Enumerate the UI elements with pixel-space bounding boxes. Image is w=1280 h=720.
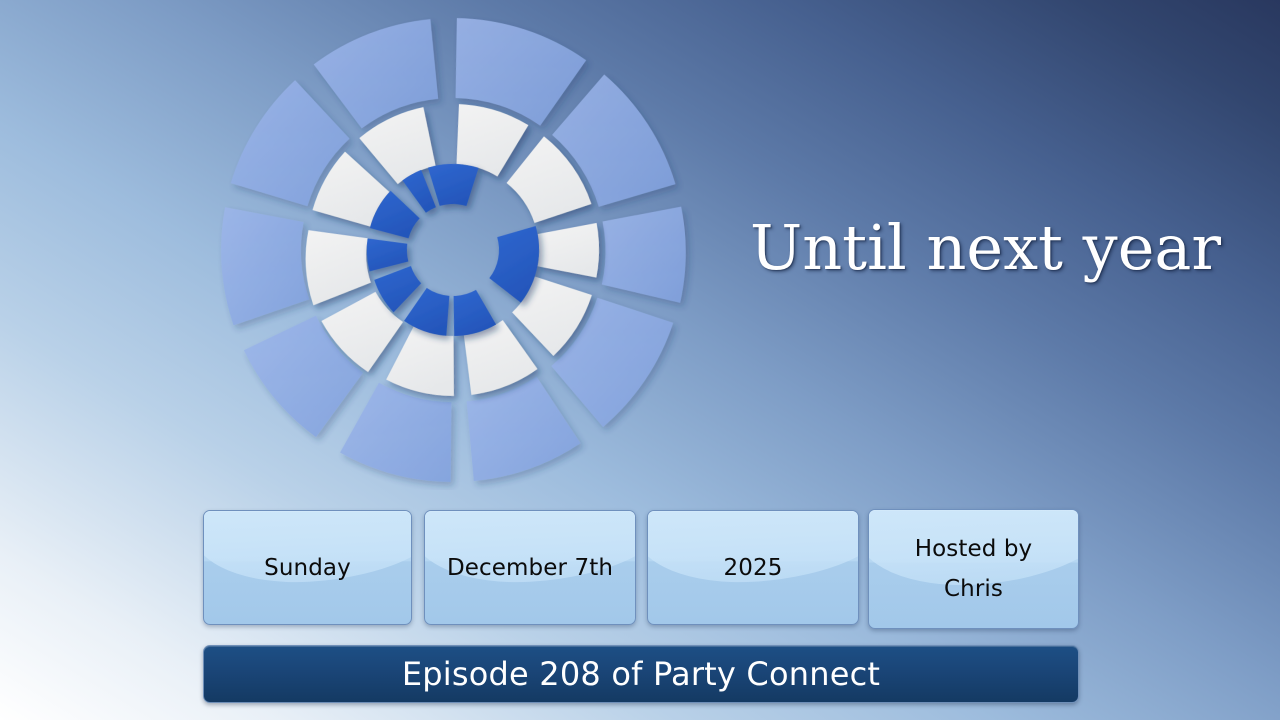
segmented-donut-wheel [185, 12, 725, 490]
info-card-text: December 7th [447, 548, 613, 588]
slide-canvas: Until next year Sunday December 7th 2025… [0, 0, 1280, 720]
info-card-day[interactable]: Sunday [203, 510, 412, 625]
wheel-outer-ring [209, 12, 697, 490]
info-card-text: Hosted by Chris [915, 529, 1033, 609]
info-card-line: December 7th [447, 548, 613, 588]
info-card-line: 2025 [724, 548, 783, 588]
info-card-line: Hosted by [915, 529, 1033, 569]
info-card-line: Sunday [264, 548, 351, 588]
info-card-host[interactable]: Hosted by Chris [868, 509, 1079, 629]
info-card-date[interactable]: December 7th [424, 510, 636, 625]
info-card-text: 2025 [724, 548, 783, 588]
page-title: Until next year [750, 206, 1230, 290]
info-card-text: Sunday [264, 548, 351, 588]
episode-banner[interactable]: Episode 208 of Party Connect [203, 645, 1079, 703]
episode-banner-text: Episode 208 of Party Connect [402, 655, 880, 693]
info-card-line: Chris [915, 569, 1033, 609]
info-card-row: Sunday December 7th 2025 Hosted by Chris [203, 509, 1079, 629]
info-card-year[interactable]: 2025 [647, 510, 859, 625]
